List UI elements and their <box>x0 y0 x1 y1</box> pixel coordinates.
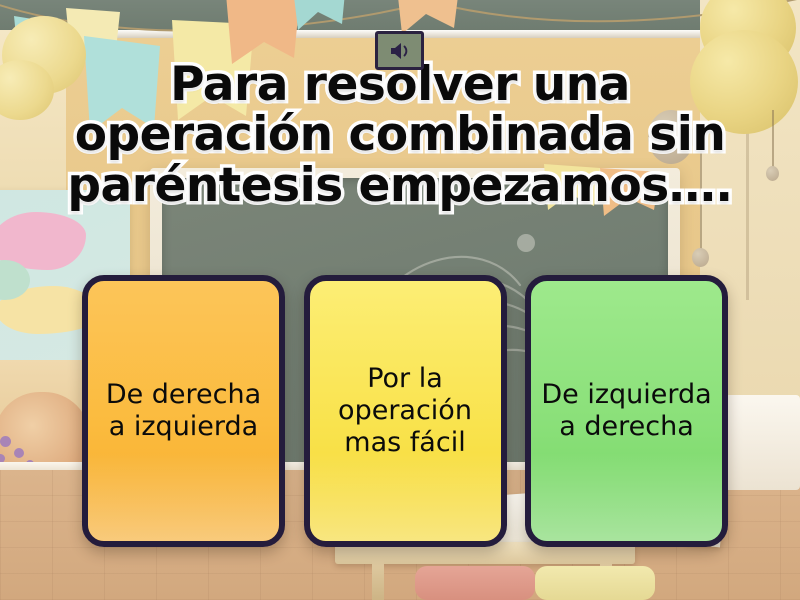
answer-option-2-label: Por la operación mas fácil <box>320 363 491 459</box>
desk-leg-right <box>600 560 612 600</box>
audio-play-button[interactable] <box>375 31 424 70</box>
quiz-screen: Para resolver una operación combinada si… <box>0 0 800 600</box>
answer-option-1-label: De derecha a izquierda <box>98 379 269 443</box>
question-text: Para resolver una operación combinada si… <box>40 60 760 211</box>
chalkboard-top-strip <box>0 0 800 34</box>
answer-options: De derecha a izquierda Por la operación … <box>82 275 728 547</box>
bunting-flag-teal-3 <box>288 0 352 42</box>
desk-leg-left <box>372 560 384 600</box>
pompom-string-1 <box>716 0 718 54</box>
answer-option-1[interactable]: De derecha a izquierda <box>82 275 285 547</box>
pompom-string-3 <box>772 110 774 170</box>
answer-option-3-label: De izquierda a derecha <box>541 379 712 443</box>
answer-option-3[interactable]: De izquierda a derecha <box>525 275 728 547</box>
answer-option-2[interactable]: Por la operación mas fácil <box>304 275 507 547</box>
hanging-bead-2 <box>692 248 709 267</box>
plant-pot <box>0 392 90 488</box>
hanging-bead-3 <box>766 166 779 181</box>
speaker-icon <box>388 41 412 61</box>
stool-pink <box>415 566 535 600</box>
stool-yellow <box>535 566 655 600</box>
